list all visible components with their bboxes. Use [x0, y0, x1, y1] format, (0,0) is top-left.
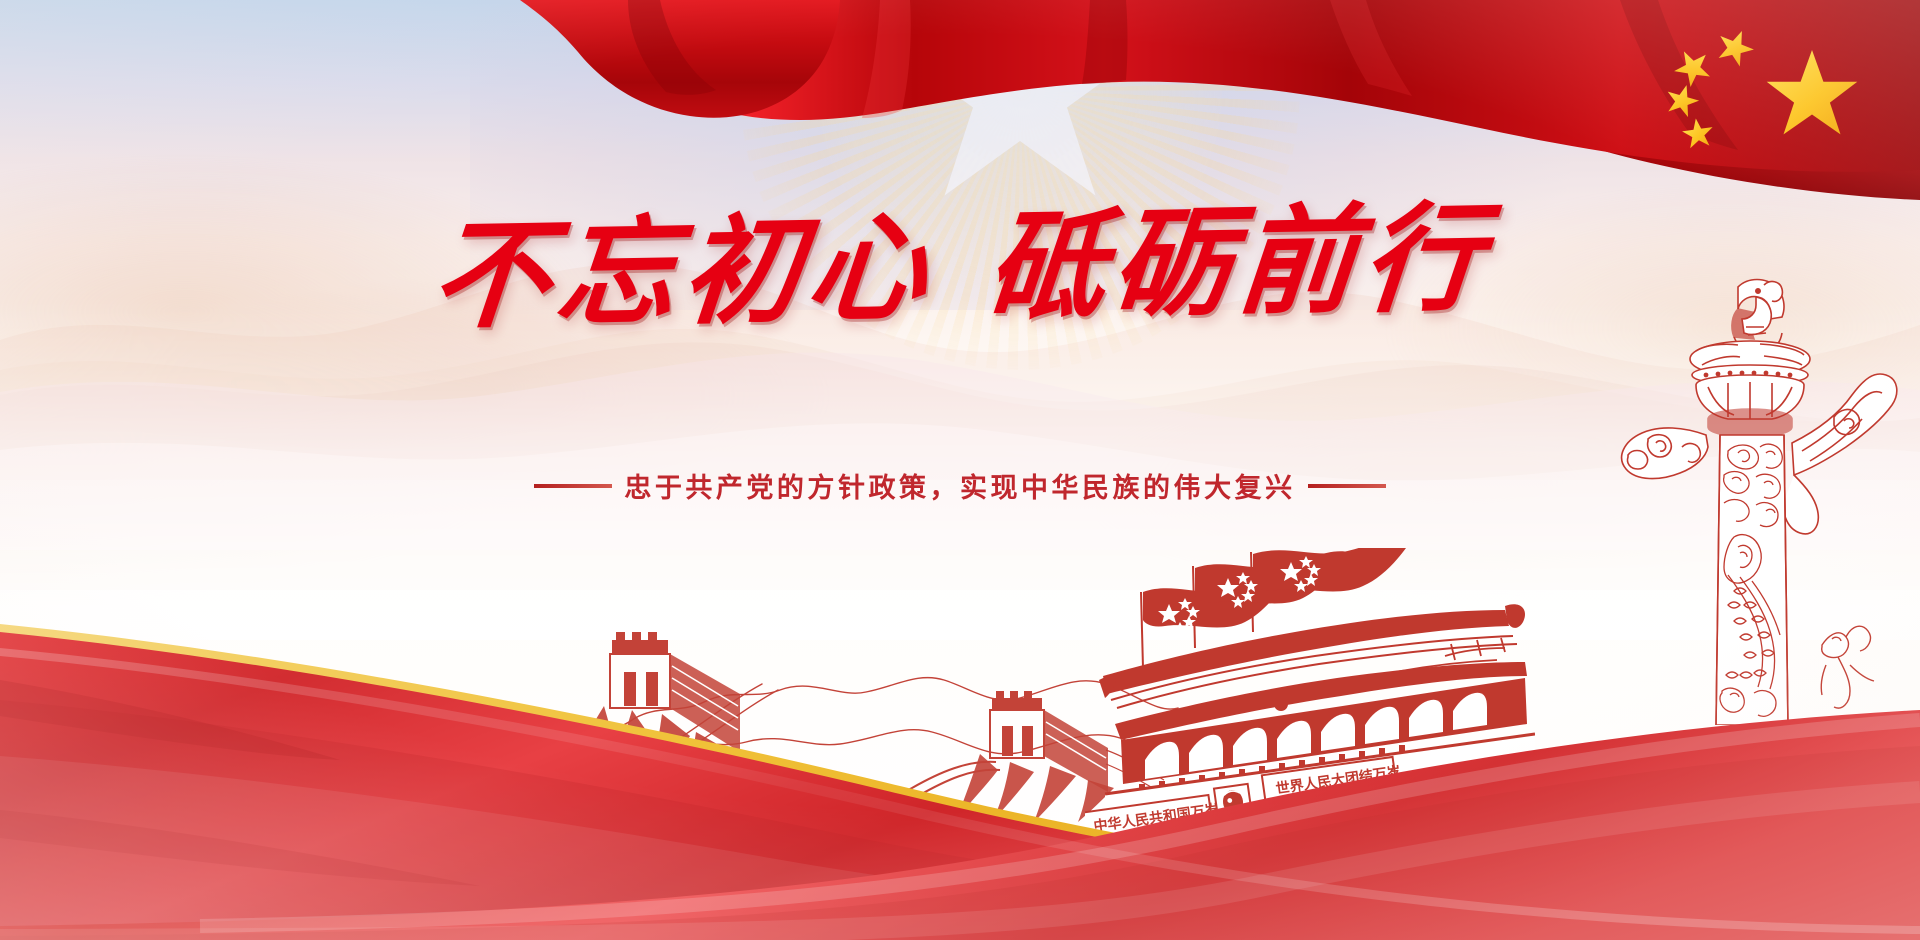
five-pointed-star-icon: [1712, 24, 1758, 69]
five-pointed-star-icon: [1669, 42, 1719, 91]
five-pointed-star-icon: [1767, 50, 1858, 134]
five-pointed-star-icon: [1663, 81, 1703, 119]
five-pointed-star-icon: [1681, 116, 1715, 149]
china-flag-stars: [1600, 0, 1920, 190]
poster-canvas: 不忘初心砥砺前行 忠于共产党的方针政策，实现中华民族的伟大复兴: [0, 0, 1920, 940]
subtitle-rule-right: [1308, 484, 1386, 488]
subtitle-text: 忠于共产党的方针政策，实现中华民族的伟大复兴: [624, 466, 1295, 505]
subtitle-rule-left: [534, 484, 612, 488]
poster-subtitle: 忠于共产党的方针政策，实现中华民族的伟大复兴: [534, 466, 1385, 505]
red-ribbon-icon: [0, 560, 1920, 940]
